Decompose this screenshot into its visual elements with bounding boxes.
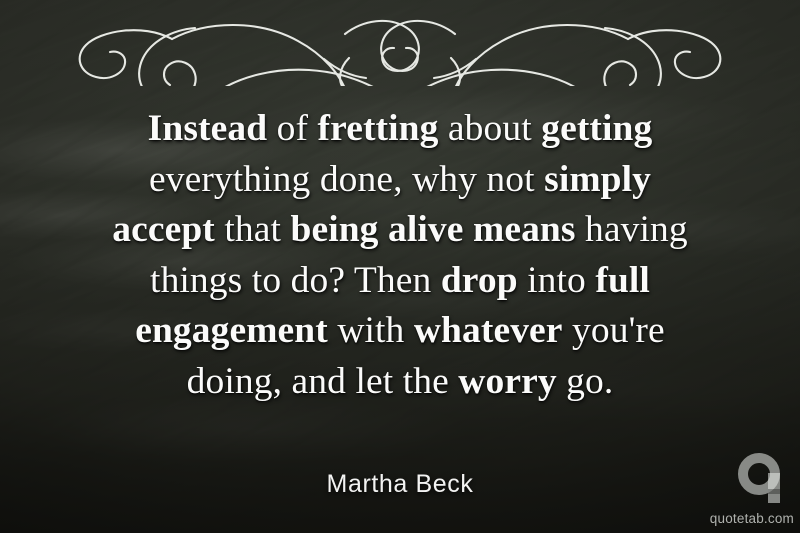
quote-card: Instead of fretting about getting everyt… [0,0,800,533]
quote-word: that [215,209,291,250]
quote-word: being [291,209,379,250]
quote-word: fretting [318,108,439,149]
quote-word: everything done, why not [149,159,544,200]
watermark[interactable]: quotetab.com [704,451,800,533]
quote-word: accept [112,209,215,250]
watermark-site-label: quotetab.com [710,511,794,526]
quote-word: getting [541,108,652,149]
logo-tail [768,473,780,503]
quote-word: go. [557,361,614,402]
quote-word: worry [458,361,556,402]
quote-word [379,209,388,250]
quote-word: things to do? Then [150,260,441,301]
quote-word: of [267,108,317,149]
quote-word: alive [388,209,463,250]
quote-word: having [576,209,688,250]
author-name: Martha Beck [0,470,800,499]
quote-word: whatever [414,310,563,351]
quote-line: doing, and let the worry go. [187,361,614,402]
quote-line: engagement with whatever you're [135,310,665,351]
quote-word: simply [544,159,651,200]
decorative-flourish-icon [77,12,723,86]
quote-word: about [438,108,541,149]
quote-word: into [518,260,596,301]
quote-word: with [328,310,414,351]
quote-line: things to do? Then drop into full [150,260,650,301]
quote-word [464,209,473,250]
quote-line: Instead of fretting about getting [148,108,653,149]
quote-line: everything done, why not simply [149,159,651,200]
quote-text: Instead of fretting about getting everyt… [0,104,800,407]
quote-word: full [595,260,650,301]
quote-word: engagement [135,310,328,351]
quote-line: accept that being alive means having [112,209,687,250]
quotetab-logo-icon [738,453,786,503]
quote-word: Instead [148,108,267,149]
quote-word: means [473,209,576,250]
quote-word: you're [563,310,665,351]
logo-notch [768,489,780,494]
quote-word: drop [441,260,518,301]
quote-word: doing, and let the [187,361,459,402]
